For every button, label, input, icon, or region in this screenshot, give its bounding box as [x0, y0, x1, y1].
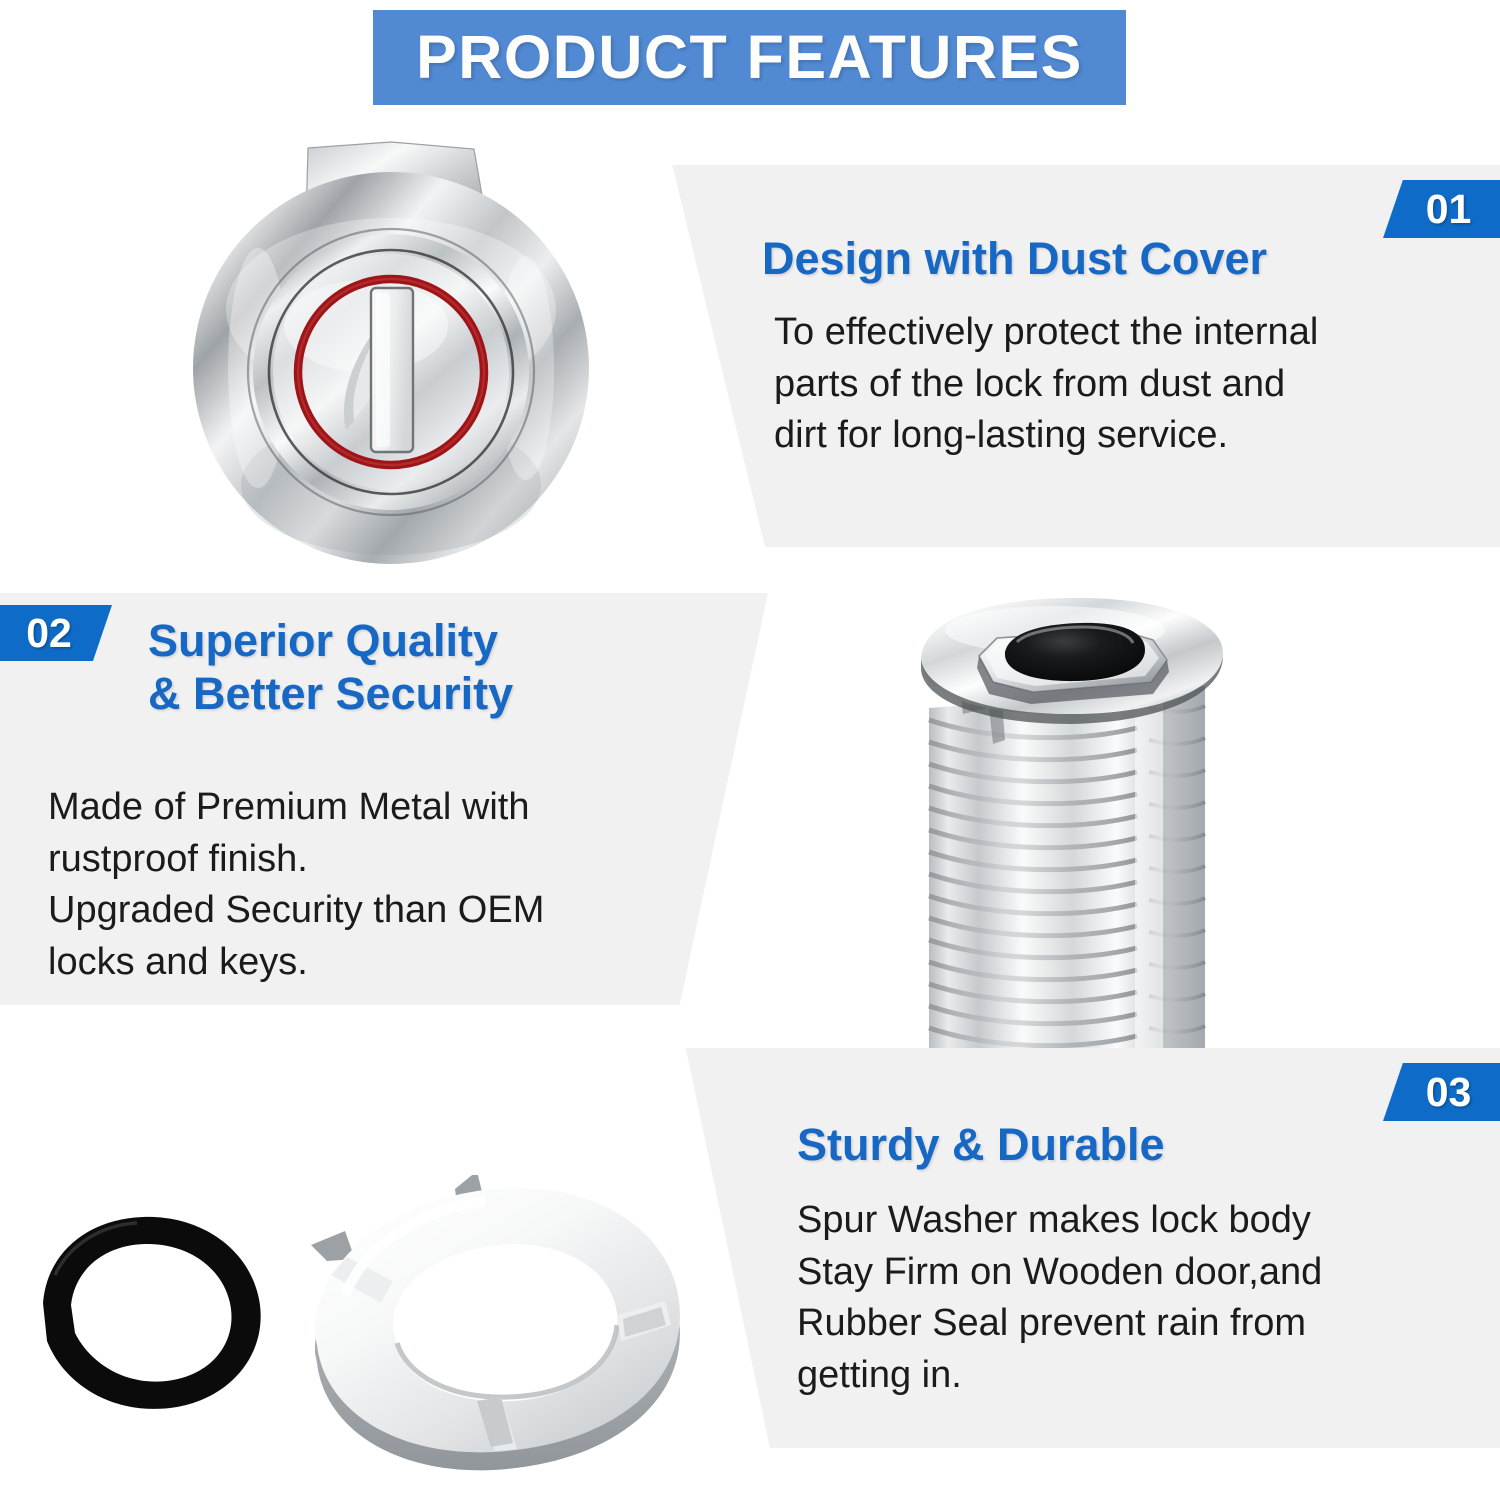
feature-body-line: Spur Washer makes lock body — [797, 1195, 1477, 1247]
feature-body-line: parts of the lock from dust and — [774, 359, 1462, 411]
lock-cylinder-face-image — [186, 140, 596, 565]
badge-number-label: 03 — [1426, 1072, 1472, 1113]
feature-text-block-02: Superior Quality & Better Security Made … — [148, 614, 768, 746]
seal-and-spur-washer-image — [25, 1175, 695, 1475]
page-title: PRODUCT FEATURES — [416, 27, 1083, 88]
feature-body-line: Rubber Seal prevent rain from — [797, 1298, 1477, 1350]
rubber-seal-and-spur-washer-icon — [25, 1175, 695, 1475]
feature-heading-line: Superior Quality — [148, 614, 768, 667]
feature-text-block-03: Sturdy & Durable Spur Washer makes lock … — [797, 1118, 1477, 1402]
feature-body-line: Stay Firm on Wooden door,and — [797, 1247, 1477, 1299]
feature-number-badge-02: 02 — [0, 605, 112, 661]
feature-number-badge-03: 03 — [1383, 1063, 1500, 1121]
spur-washer — [311, 1175, 680, 1470]
threaded-barrel-image — [905, 590, 1245, 1055]
feature-body-03: Spur Washer makes lock body Stay Firm on… — [797, 1195, 1477, 1402]
feature-body-02: Made of Premium Metal with rustproof fin… — [48, 782, 708, 989]
keyway-slot-highlight — [376, 293, 390, 447]
feature-body-line: rustproof finish. — [48, 834, 708, 886]
feature-number-badge-01: 01 — [1383, 180, 1500, 238]
shaft-highlight-band — [1135, 694, 1163, 1052]
lock-cylinder-face-icon — [186, 140, 596, 565]
threaded-lock-barrel-icon — [905, 590, 1245, 1055]
feature-body-line: locks and keys. — [48, 937, 708, 989]
rubber-seal-ring — [43, 1217, 261, 1409]
badge-number-label: 02 — [26, 613, 72, 654]
feature-body-line: To effectively protect the internal — [774, 307, 1462, 359]
feature-body-line: dirt for long-lasting service. — [774, 410, 1462, 462]
feature-heading-03: Sturdy & Durable — [797, 1118, 1477, 1171]
feature-body-line: getting in. — [797, 1350, 1477, 1402]
feature-body-line: Made of Premium Metal with — [48, 782, 708, 834]
header-banner: PRODUCT FEATURES — [373, 10, 1126, 105]
feature-text-block-01: Design with Dust Cover To effectively pr… — [762, 232, 1462, 462]
feature-heading-01: Design with Dust Cover — [762, 232, 1462, 285]
feature-body-01: To effectively protect the internal part… — [762, 307, 1462, 462]
feature-body-line: Upgraded Security than OEM — [48, 885, 708, 937]
badge-number-label: 01 — [1426, 189, 1472, 230]
feature-heading-line: & Better Security — [148, 667, 768, 720]
product-features-infographic: PRODUCT FEATURES 01 Design with Dust Cov… — [0, 0, 1500, 1490]
feature-heading-02: Superior Quality & Better Security — [148, 614, 768, 720]
